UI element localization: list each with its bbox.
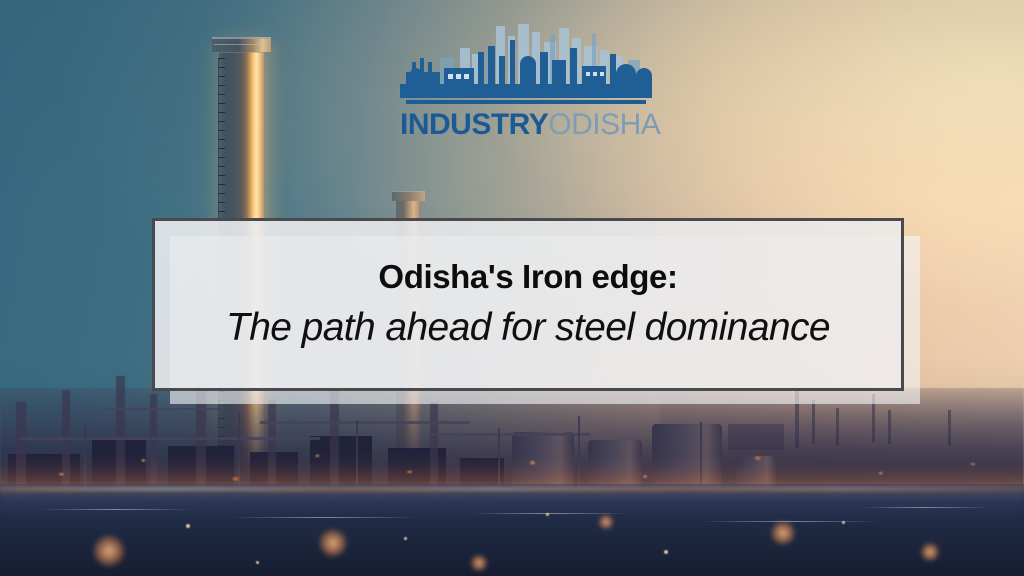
foreground-reflection-sheen [0, 484, 1024, 520]
spark-particle [186, 524, 190, 528]
card-subheading: The path ahead for steel dominance [226, 308, 830, 349]
pipe-rack [260, 421, 470, 424]
logo-divider-rule [406, 100, 646, 104]
pipe-rack [430, 433, 590, 436]
spark-particle [546, 513, 549, 516]
title-card: Odisha's Iron edge: The path ahead for s… [152, 218, 904, 391]
banner-canvas: INDUSTRYODISHA Odisha's Iron edge: The p… [0, 0, 1024, 576]
reflection-streak [230, 517, 420, 518]
bokeh-particle [470, 554, 488, 572]
brand-name-light: ODISHA [548, 108, 660, 141]
brand-wordmark: INDUSTRYODISHA [400, 110, 652, 140]
reflection-streak [860, 507, 990, 508]
pipe-rack [20, 437, 320, 440]
spark-particle [404, 537, 407, 540]
spark-particle [842, 521, 845, 524]
bokeh-particle [920, 542, 940, 562]
reflection-streak [40, 509, 190, 510]
spark-particle [256, 561, 259, 564]
secondary-smokestack-cap [392, 191, 425, 201]
card-heading: Odisha's Iron edge: [378, 260, 677, 295]
ember-particles-band [0, 442, 1024, 488]
brand-name-bold: INDUSTRY [400, 108, 548, 141]
spark-particle [664, 550, 668, 554]
bokeh-particle [318, 528, 348, 558]
bokeh-particle [770, 520, 796, 546]
industrial-skyline-icon [400, 22, 652, 98]
bokeh-particle [92, 534, 126, 568]
brand-logo[interactable]: INDUSTRYODISHA [400, 22, 652, 142]
pipe-rack [104, 408, 224, 410]
main-smokestack-railing [214, 44, 269, 53]
bokeh-particle [598, 514, 614, 530]
